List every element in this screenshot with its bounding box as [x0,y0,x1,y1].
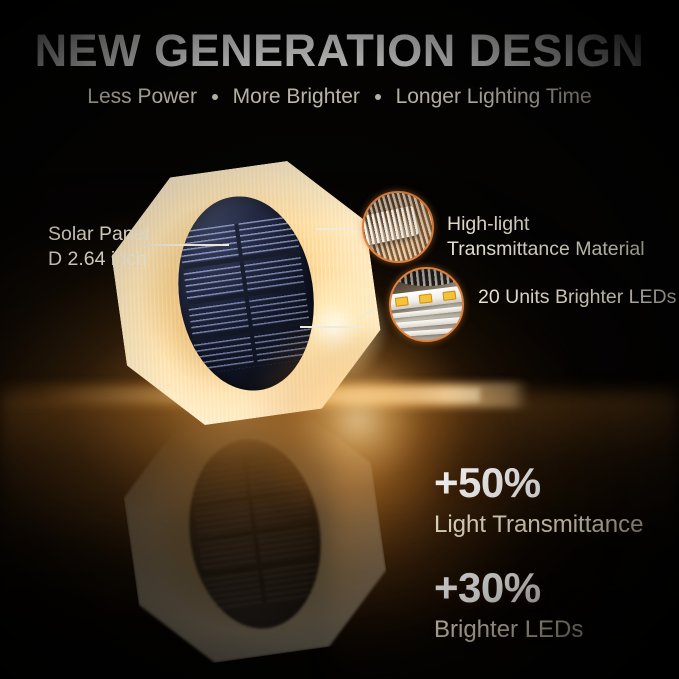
stat-light-transmittance: +50% Light Transmittance [434,462,643,537]
leader-line-material [316,228,368,230]
bullet-dot-icon [375,94,381,100]
led-strip-detail-icon [389,267,464,342]
stat-value: +30% [434,567,583,609]
solar-light-product [102,151,390,434]
stat-caption: Brighter LEDs [434,617,583,642]
subtitle-item-1: Less Power [87,85,197,108]
subtitle-item-3: Longer Lighting Time [396,85,592,108]
subtitle-feature-list: Less Power More Brighter Longer Lighting… [0,86,679,107]
callout-label-transmittance-material: High-light Transmittance Material [447,212,645,262]
page-title: NEW GENERATION DESIGN [0,28,679,73]
stat-caption: Light Transmittance [434,512,643,537]
led-chip [442,291,456,301]
led-chip [394,297,408,307]
subtitle-item-2: More Brighter [233,85,360,108]
inset-dark-dome [389,267,464,286]
prism-lens-detail-icon [362,191,434,263]
lamp-reflection [114,396,396,672]
inset-light-bar [389,327,464,338]
leader-line-leds [300,326,365,328]
led-chip [418,294,432,304]
callout-label-solar-panel: Solar Panel D 2.64 inch [48,222,149,272]
product-feature-graphic: NEW GENERATION DESIGN Less Power More Br… [0,0,679,679]
bullet-dot-icon [212,94,218,100]
callout-label-brighter-leds: 20 Units Brighter LEDs [478,285,676,310]
leader-line-solar-panel [140,244,229,246]
stat-brighter-leds: +30% Brighter LEDs [434,567,583,642]
stat-value: +50% [434,462,643,504]
